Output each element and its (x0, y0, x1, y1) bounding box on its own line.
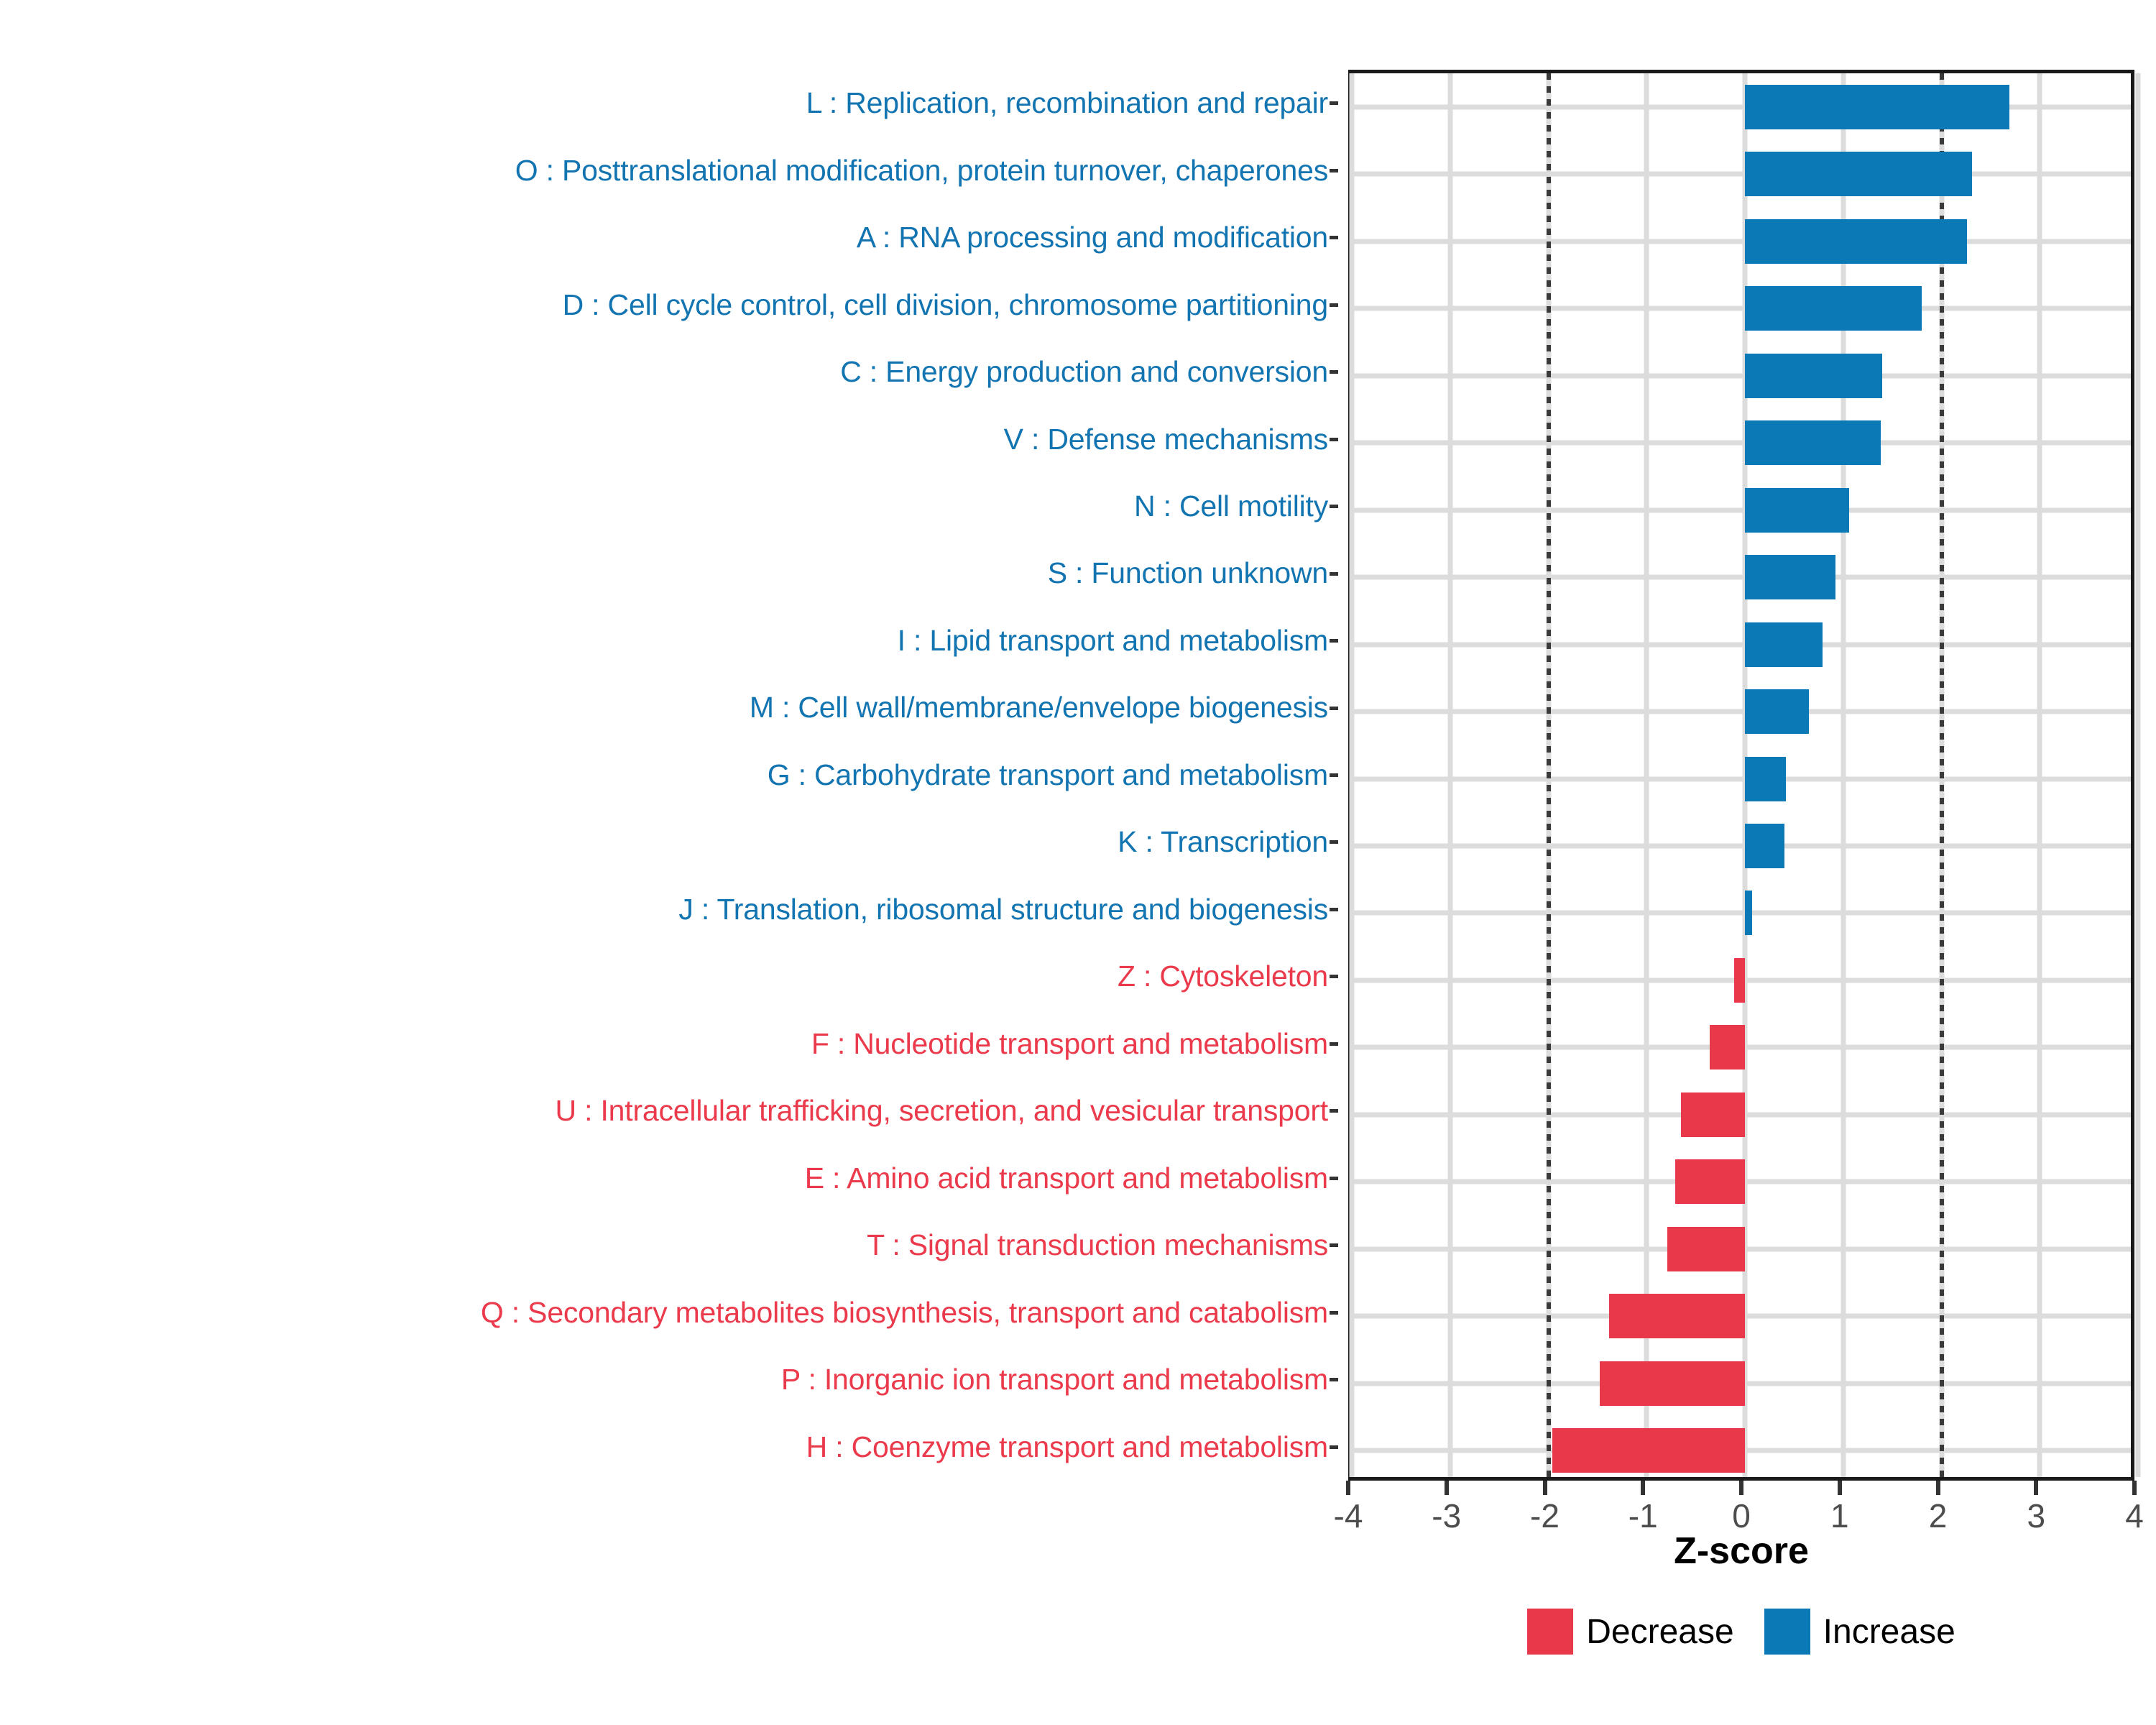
y-axis-tick (1330, 1177, 1338, 1180)
horizontal-gridline (1352, 507, 2131, 512)
y-axis-tick (1330, 707, 1338, 710)
y-axis-category-label: M : Cell wall/membrane/envelope biogenes… (750, 692, 1328, 723)
x-axis-tick (1936, 1481, 1940, 1495)
legend-swatch-icon (1527, 1609, 1573, 1655)
horizontal-gridline (1352, 104, 2131, 109)
x-axis-tick (1346, 1481, 1350, 1495)
y-axis-label-row: L : Replication, recombination and repai… (0, 70, 1338, 137)
x-axis-tick (2034, 1481, 2038, 1495)
chart-bar[interactable] (1667, 1227, 1745, 1271)
plot-panel (1348, 70, 2134, 1481)
y-axis-category-label: Q : Secondary metabolites biosynthesis, … (481, 1297, 1328, 1328)
y-axis-category-label: I : Lipid transport and metabolism (898, 625, 1328, 656)
y-axis-tick (1330, 1311, 1338, 1315)
y-axis-category-label: L : Replication, recombination and repai… (806, 88, 1328, 119)
y-axis-tick (1330, 1109, 1338, 1113)
y-axis-category-label: D : Cell cycle control, cell division, c… (563, 290, 1328, 321)
chart-bar[interactable] (1600, 1361, 1745, 1406)
horizontal-gridline (1352, 709, 2131, 714)
y-axis-label-row: O : Posttranslational modification, prot… (0, 137, 1338, 203)
chart-bar[interactable] (1745, 757, 1786, 801)
chart-bar[interactable] (1734, 958, 1745, 1003)
chart-bar[interactable] (1675, 1159, 1745, 1204)
y-axis-tick (1330, 1042, 1338, 1046)
chart-bar[interactable] (1745, 420, 1881, 465)
chart-bar[interactable] (1681, 1092, 1745, 1137)
y-axis-tick (1330, 438, 1338, 441)
reference-line (1547, 73, 1551, 1477)
y-axis-label-row: J : Translation, ribosomal structure and… (0, 876, 1338, 943)
y-axis-tick (1330, 1445, 1338, 1449)
x-axis-title: Z-score (1348, 1529, 2134, 1573)
horizontal-gridline (1352, 575, 2131, 580)
horizontal-gridline (1352, 776, 2131, 781)
y-axis-category-label: C : Energy production and conversion (840, 356, 1328, 387)
y-axis-label-row: D : Cell cycle control, cell division, c… (0, 271, 1338, 338)
x-axis-tick (1543, 1481, 1547, 1495)
y-axis-tick (1330, 236, 1338, 239)
y-axis-tick (1330, 773, 1338, 777)
y-axis-tick (1330, 169, 1338, 172)
chart-bar[interactable] (1609, 1294, 1745, 1338)
y-axis-category-label: K : Transcription (1118, 827, 1328, 857)
y-axis-category-label: E : Amino acid transport and metabolism (805, 1163, 1328, 1194)
horizontal-gridline (1352, 911, 2131, 916)
x-axis-tick (1445, 1481, 1449, 1495)
legend-label: Increase (1823, 1612, 1955, 1652)
vertical-gridline (1644, 73, 1649, 1477)
y-axis-label-row: T : Signal transduction mechanisms (0, 1212, 1338, 1279)
y-axis-tick (1330, 572, 1338, 576)
y-axis-labels: L : Replication, recombination and repai… (0, 70, 1338, 1481)
y-axis-label-row: Q : Secondary metabolites biosynthesis, … (0, 1279, 1338, 1345)
y-axis-category-label: P : Inorganic ion transport and metaboli… (781, 1364, 1328, 1395)
y-axis-label-row: F : Nucleotide transport and metabolism (0, 1011, 1338, 1077)
horizontal-gridline (1352, 306, 2131, 311)
chart-bar[interactable] (1745, 555, 1835, 599)
y-axis-label-row: U : Intracellular trafficking, secretion… (0, 1077, 1338, 1144)
horizontal-gridline (1352, 239, 2131, 244)
y-axis-tick (1330, 303, 1338, 307)
y-axis-category-label: V : Defense mechanisms (1004, 424, 1328, 455)
plot-area (1352, 73, 2131, 1477)
horizontal-gridline (1352, 373, 2131, 378)
y-axis-label-row: C : Energy production and conversion (0, 339, 1338, 405)
y-axis-label-row: S : Function unknown (0, 540, 1338, 607)
y-axis-label-row: V : Defense mechanisms (0, 405, 1338, 472)
reference-line (1940, 73, 1944, 1477)
vertical-gridline (2037, 73, 2042, 1477)
vertical-gridline (2136, 73, 2141, 1477)
chart-bar[interactable] (1745, 488, 1849, 533)
y-axis-category-label: U : Intracellular trafficking, secretion… (555, 1095, 1328, 1126)
vertical-gridline (1841, 73, 1846, 1477)
chart-bar[interactable] (1710, 1025, 1745, 1069)
x-axis-tick (1739, 1481, 1743, 1495)
y-axis-label-row: N : Cell motility (0, 473, 1338, 540)
y-axis-label-row: K : Transcription (0, 809, 1338, 875)
chart-bar[interactable] (1552, 1428, 1745, 1473)
horizontal-gridline (1352, 172, 2131, 177)
y-axis-category-label: S : Function unknown (1048, 558, 1328, 589)
y-axis-category-label: O : Posttranslational modification, prot… (515, 155, 1328, 186)
chart-bar[interactable] (1745, 219, 1967, 264)
y-axis-category-label: A : RNA processing and modification (857, 222, 1328, 253)
chart-bar[interactable] (1745, 622, 1823, 667)
x-axis-tick (1838, 1481, 1842, 1495)
y-axis-category-label: G : Carbohydrate transport and metabolis… (768, 760, 1328, 791)
y-axis-label-row: P : Inorganic ion transport and metaboli… (0, 1346, 1338, 1413)
y-axis-label-row: A : RNA processing and modification (0, 204, 1338, 271)
y-axis-label-row: Z : Cytoskeleton (0, 943, 1338, 1010)
y-axis-tick (1330, 840, 1338, 844)
chart-bar[interactable] (1745, 824, 1784, 868)
y-axis-tick (1330, 639, 1338, 643)
y-axis-category-label: Z : Cytoskeleton (1118, 961, 1328, 992)
y-axis-tick (1330, 1243, 1338, 1247)
legend-item[interactable]: Increase (1764, 1609, 1955, 1655)
horizontal-gridline (1352, 441, 2131, 446)
vertical-gridline (1350, 73, 1355, 1477)
legend-label: Decrease (1586, 1612, 1733, 1652)
x-axis-tick (2132, 1481, 2137, 1495)
y-axis-tick (1330, 975, 1338, 978)
y-axis-label-row: H : Coenzyme transport and metabolism (0, 1413, 1338, 1480)
legend-item[interactable]: Decrease (1527, 1609, 1733, 1655)
y-axis-label-row: G : Carbohydrate transport and metabolis… (0, 742, 1338, 809)
y-axis-category-label: T : Signal transduction mechanisms (867, 1230, 1328, 1261)
y-axis-category-label: F : Nucleotide transport and metabolism (811, 1029, 1328, 1059)
chart-bar[interactable] (1745, 152, 1972, 196)
horizontal-gridline (1352, 843, 2131, 848)
vertical-gridline (1447, 73, 1452, 1477)
y-axis-label-row: E : Amino acid transport and metabolism (0, 1145, 1338, 1212)
chart-bar[interactable] (1745, 85, 2009, 129)
y-axis-tick (1330, 908, 1338, 911)
chart-bar[interactable] (1745, 891, 1752, 935)
y-axis-tick (1330, 101, 1338, 105)
y-axis-category-label: J : Translation, ribosomal structure and… (678, 894, 1328, 925)
y-axis-category-label: H : Coenzyme transport and metabolism (806, 1432, 1328, 1463)
y-axis-tick (1330, 1378, 1338, 1381)
y-axis-tick (1330, 505, 1338, 508)
chart-bar[interactable] (1745, 354, 1882, 398)
chart-bar[interactable] (1745, 286, 1922, 331)
y-axis-label-row: I : Lipid transport and metabolism (0, 607, 1338, 674)
x-axis-tick (1641, 1481, 1645, 1495)
horizontal-gridline (1352, 642, 2131, 647)
legend-swatch-icon (1764, 1609, 1810, 1655)
chart-figure: L : Replication, recombination and repai… (0, 0, 2156, 1725)
chart-legend: DecreaseIncrease (1348, 1592, 2134, 1671)
y-axis-label-row: M : Cell wall/membrane/envelope biogenes… (0, 674, 1338, 741)
y-axis-tick (1330, 370, 1338, 374)
chart-bar[interactable] (1745, 689, 1809, 734)
y-axis-category-label: N : Cell motility (1134, 491, 1328, 522)
